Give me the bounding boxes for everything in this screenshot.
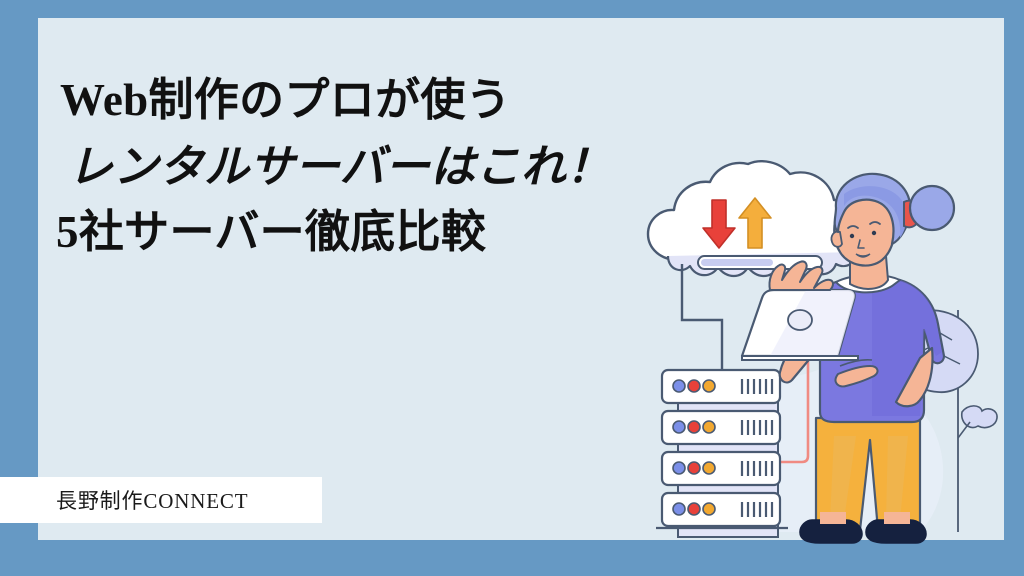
server-unit bbox=[662, 452, 780, 485]
server-rack bbox=[656, 370, 788, 537]
brand-name: 長野制作CONNECT bbox=[56, 485, 248, 515]
title-line-2: レンタルサーバーはこれ！ bbox=[68, 145, 696, 190]
server-unit bbox=[662, 370, 780, 403]
server-unit bbox=[662, 493, 780, 526]
server-unit bbox=[662, 411, 780, 444]
cloud-to-server-cable bbox=[682, 264, 722, 373]
hair-bun bbox=[910, 186, 954, 230]
brand-bar: 長野制作CONNECT bbox=[0, 477, 322, 523]
slide-canvas: Web制作のプロが使う レンタルサーバーはこれ！ 5社サーバー徹底比較 長野制作… bbox=[0, 0, 1024, 576]
page-title: Web制作のプロが使う レンタルサーバーはこれ！ 5社サーバー徹底比較 bbox=[56, 78, 696, 255]
title-line-1: Web制作のプロが使う bbox=[60, 78, 696, 123]
laptop-base bbox=[742, 356, 858, 360]
title-line-3: 5社サーバー徹底比較 bbox=[56, 210, 696, 255]
laptop-logo bbox=[788, 310, 812, 330]
